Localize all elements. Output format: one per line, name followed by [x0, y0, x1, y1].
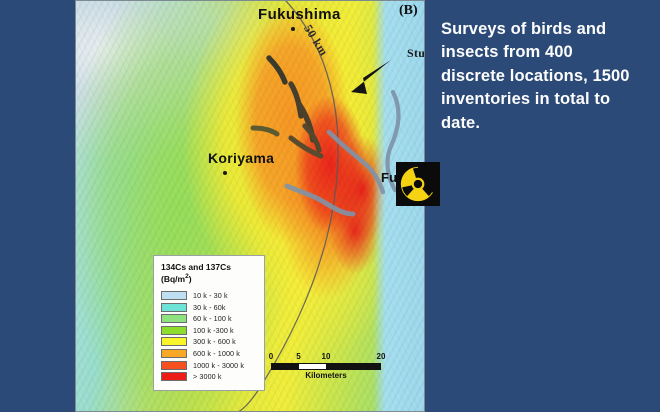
legend-entry: 60 k - 100 k — [161, 313, 258, 325]
legend-entry: 1000 k - 3000 k — [161, 359, 258, 371]
city-label-fukushima: Fukushima — [258, 6, 341, 23]
legend-swatch — [161, 361, 187, 370]
legend-entry: 10 k - 30 k — [161, 290, 258, 302]
legend-entry: 300 k - 600 k — [161, 336, 258, 348]
city-label-koriyama: Koriyama — [208, 150, 274, 166]
scale-bar-tick-label: 20 — [377, 352, 386, 361]
legend-entry-label: 600 k - 1000 k — [193, 349, 240, 358]
city-dot-koriyama — [223, 171, 227, 175]
legend-swatch — [161, 349, 187, 358]
scale-bar-tick-label: 5 — [296, 352, 300, 361]
study-areas-label: Study areas — [407, 46, 425, 61]
map-scale-bar: 051020 Kilometers — [271, 352, 381, 380]
legend-entry-label: 30 k - 60k — [193, 303, 226, 312]
scale-bar-ticks: 051020 — [271, 352, 381, 363]
legend-entry-label: > 3000 k — [193, 372, 222, 381]
legend-title-units-prefix: (Bq/m — [161, 274, 185, 284]
legend-title: 134Cs and 137Cs (Bq/m2) — [161, 262, 258, 286]
legend-entry-list: 10 k - 30 k30 k - 60k60 k - 100 k100 k -… — [161, 290, 258, 383]
radiation-trefoil-icon — [396, 162, 440, 206]
legend-swatch — [161, 337, 187, 346]
slide-root: 50 km Fukushima Koriyama Fukushima n Stu… — [0, 0, 660, 412]
legend-entry: 100 k -300 k — [161, 325, 258, 337]
legend-swatch — [161, 291, 187, 300]
legend-swatch — [161, 314, 187, 323]
scale-bar-segments — [271, 363, 381, 370]
legend-entry: 600 k - 1000 k — [161, 348, 258, 360]
legend-entry-label: 60 k - 100 k — [193, 314, 232, 323]
legend-swatch — [161, 303, 187, 312]
panel-label-b: (B) — [399, 3, 418, 19]
scale-bar-tick-label: 0 — [269, 352, 273, 361]
legend-entry-label: 300 k - 600 k — [193, 337, 236, 346]
legend-entry-label: 100 k -300 k — [193, 326, 234, 335]
legend-entry-label: 1000 k - 3000 k — [193, 361, 244, 370]
map-legend[interactable]: 134Cs and 137Cs (Bq/m2) 10 k - 30 k30 k … — [153, 255, 265, 391]
legend-entry: 30 k - 60k — [161, 301, 258, 313]
legend-swatch — [161, 326, 187, 335]
cesium-deposition-map[interactable]: 50 km Fukushima Koriyama Fukushima n Stu… — [75, 0, 425, 412]
slide-caption-text: Surveys of birds and insects from 400 di… — [441, 18, 641, 135]
legend-entry: > 3000 k — [161, 371, 258, 383]
scale-bar-units-label: Kilometers — [271, 371, 381, 380]
scale-bar-tick-label: 10 — [322, 352, 331, 361]
legend-title-units-suffix: ) — [189, 274, 192, 284]
legend-entry-label: 10 k - 30 k — [193, 291, 228, 300]
legend-title-line1: 134Cs and 137Cs — [161, 262, 231, 272]
city-dot-fukushima — [291, 27, 295, 31]
legend-swatch — [161, 372, 187, 381]
